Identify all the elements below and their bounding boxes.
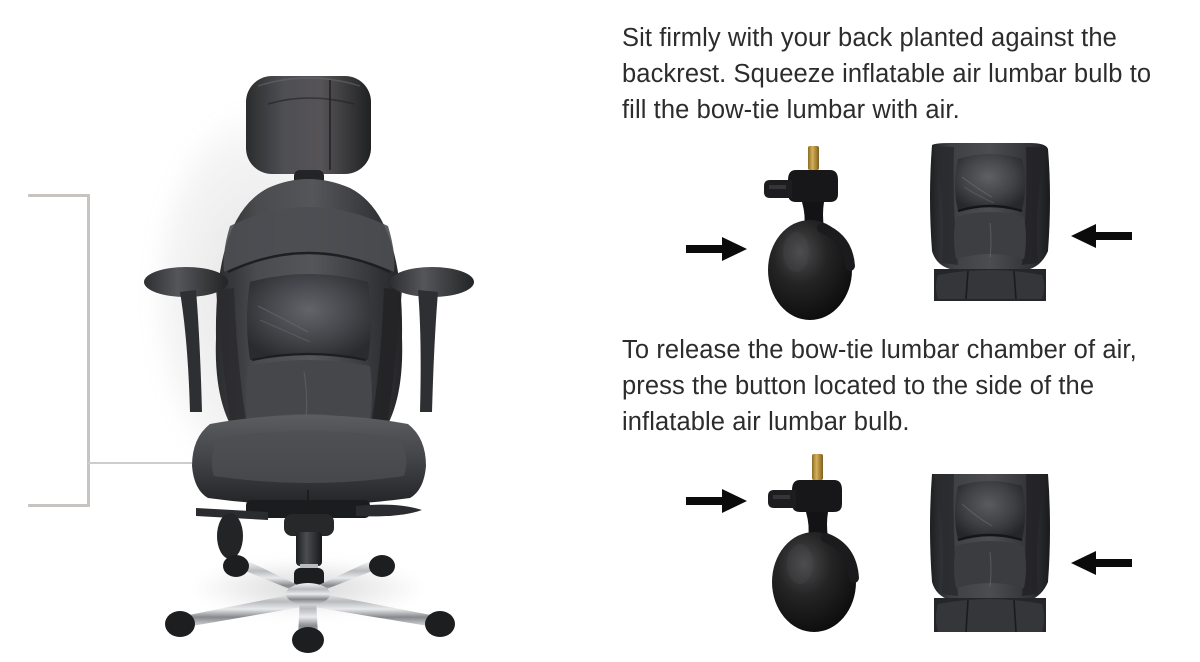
bow-tie-lumbar-inflated-photo [922, 143, 1058, 305]
instruction-page: Sit firmly with your back planted agains… [0, 0, 1200, 662]
arrow-left-pointing-at-lumbar [1070, 550, 1132, 576]
callout-bracket-spine [87, 194, 90, 507]
inflatable-air-lumbar-bulb-on-chair [217, 513, 243, 559]
instruction-text-inflate: Sit firmly with your back planted agains… [622, 20, 1182, 128]
brass-valve-stem [808, 146, 819, 170]
product-illustration-panel [0, 0, 600, 662]
chair-armrest-right [390, 267, 474, 412]
chair-graphic [118, 20, 500, 642]
office-chair-photo [118, 20, 500, 642]
arrow-right-pointing-at-release-button [686, 488, 748, 514]
chair-armrest-left [144, 267, 228, 412]
bow-tie-lumbar [247, 274, 371, 360]
brass-valve-stem [812, 454, 823, 480]
lumbar-adjustment-callout-bracket [28, 194, 90, 507]
callout-bracket-top-arm [28, 194, 90, 197]
bow-tie-lumbar-deflated-photo [922, 474, 1058, 636]
arrow-left-pointing-at-lumbar [1070, 223, 1132, 249]
chair-backrest [216, 179, 402, 424]
instructions-panel: Sit firmly with your back planted agains… [600, 0, 1200, 662]
chair-seat [192, 415, 426, 506]
figure-row-release [600, 458, 1200, 638]
figure-row-inflate [600, 138, 1200, 318]
chair-headrest [246, 76, 371, 192]
instruction-text-release: To release the bow-tie lumbar chamber of… [622, 332, 1182, 440]
inflatable-air-lumbar-bulb-release-photo [752, 452, 872, 632]
inflatable-air-lumbar-bulb-photo [752, 142, 872, 322]
callout-bracket-bottom-arm [28, 504, 90, 507]
arrow-right-pointing-at-bulb [686, 236, 748, 262]
